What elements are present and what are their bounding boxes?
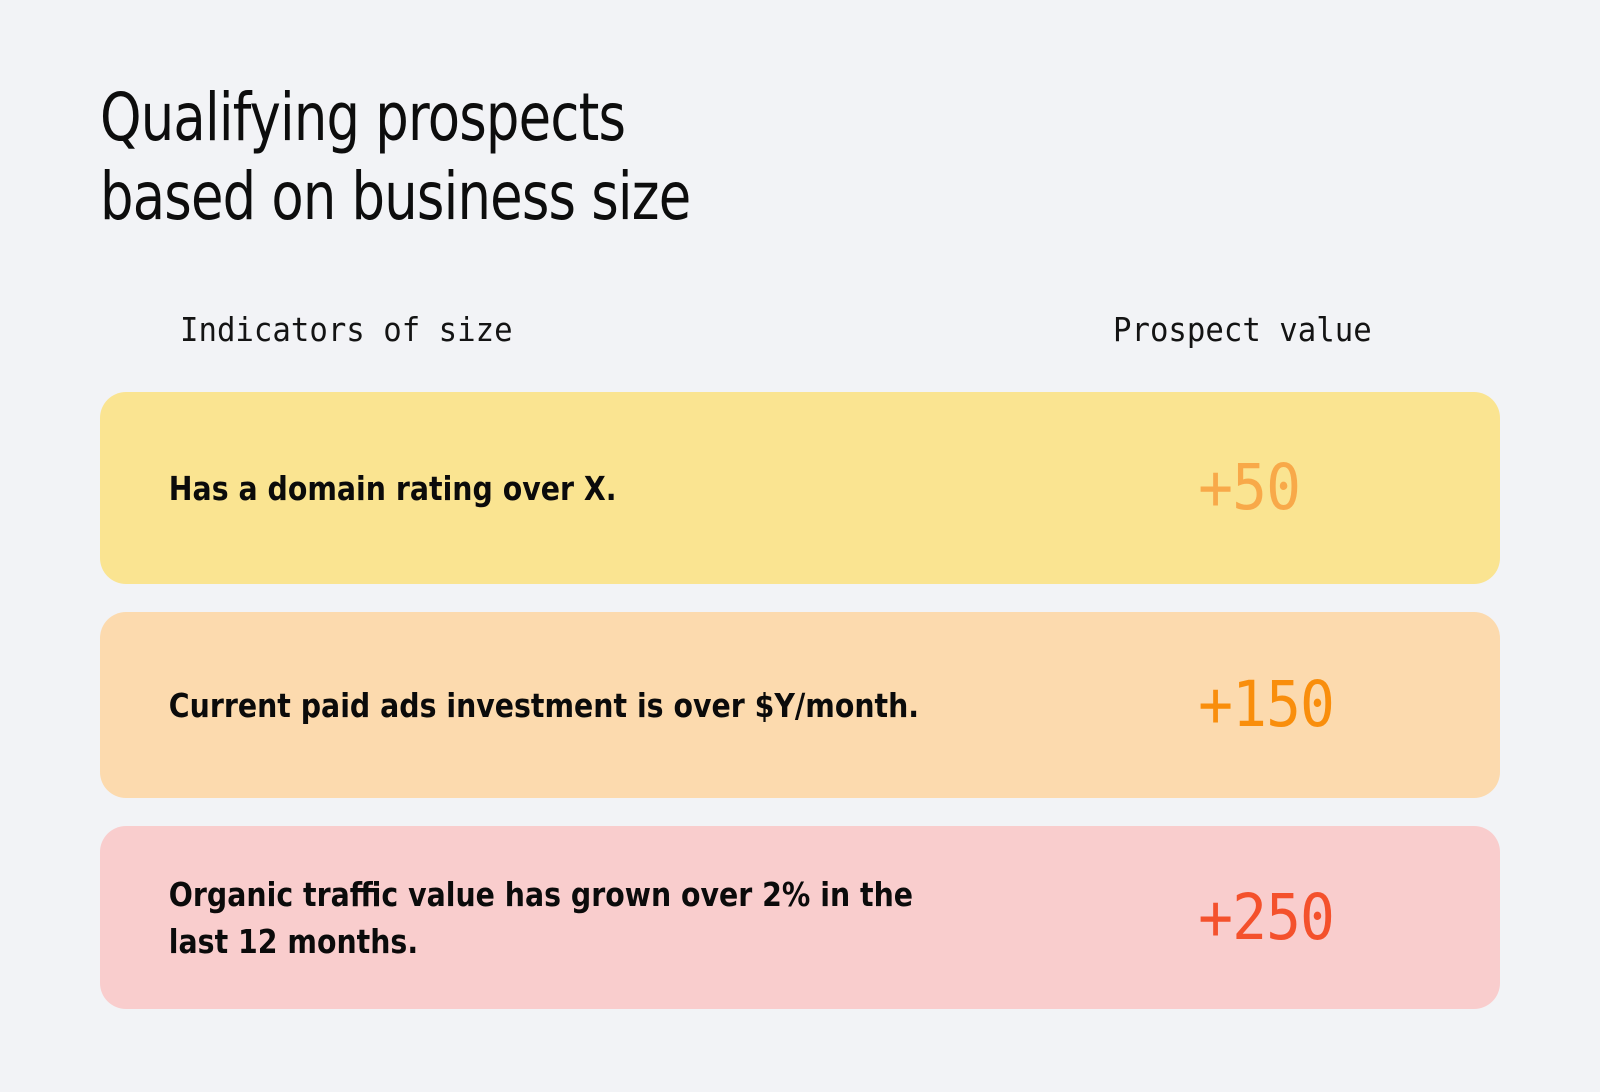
row-prospect-value: +50 [1165,455,1473,521]
row-indicator-text: Organic traffic value has grown over 2% … [100,871,1016,965]
column-header-prospect-value: Prospect value [1113,308,1372,352]
table-row: Organic traffic value has grown over 2% … [100,826,1500,1009]
table-body: Has a domain rating over X. +50 Current … [100,392,1500,1009]
row-prospect-value: +250 [1165,885,1473,951]
infographic-page: Qualifying prospects based on business s… [0,0,1600,1092]
column-header-indicators: Indicators of size [180,308,513,352]
row-prospect-value: +150 [1165,672,1473,738]
table-header-row: Indicators of size Prospect value [100,300,1500,362]
table-row: Has a domain rating over X. +50 [100,392,1500,584]
row-indicator-text: Has a domain rating over X. [100,465,1016,512]
table-row: Current paid ads investment is over $Y/m… [100,612,1500,798]
row-indicator-text: Current paid ads investment is over $Y/m… [100,682,1016,729]
page-title: Qualifying prospects based on business s… [100,78,900,236]
